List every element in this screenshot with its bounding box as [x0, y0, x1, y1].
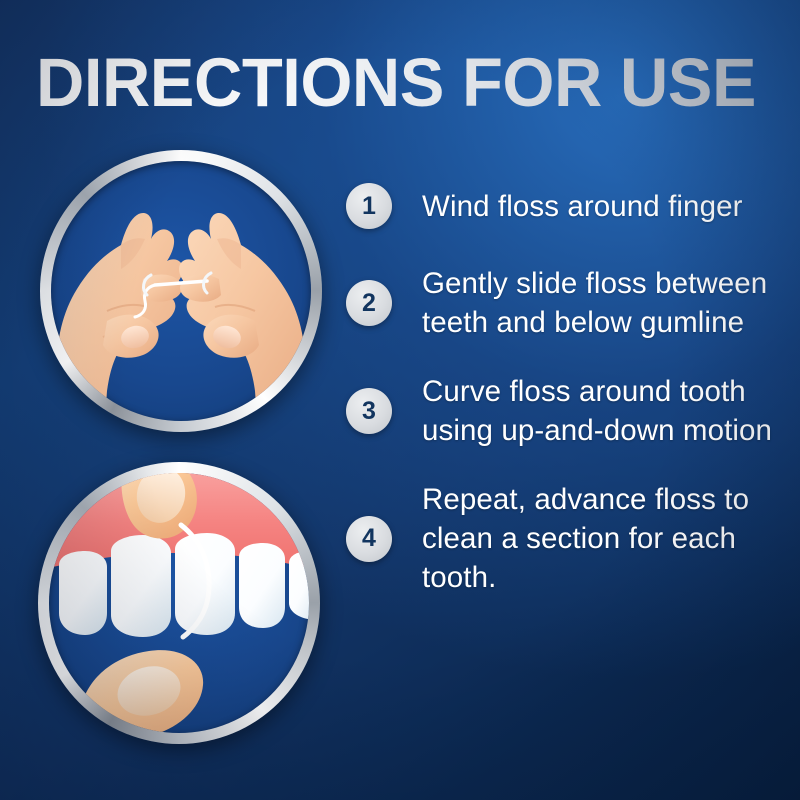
illustration-hands-winding-floss	[40, 150, 322, 432]
step-number-badge-1: 1	[346, 183, 392, 229]
step-number-badge-2: 2	[346, 280, 392, 326]
illustration-disc	[51, 161, 311, 421]
right-hand	[179, 213, 306, 419]
illustration-flossing-between-teeth	[38, 462, 320, 744]
step-item-2: 2 Gently slide floss between teeth and b…	[346, 264, 786, 342]
tooth-5	[289, 551, 309, 619]
step-item-1: 1 Wind floss around finger	[346, 178, 786, 234]
steps-list: 1 Wind floss around finger 2 Gently slid…	[346, 178, 786, 619]
step-item-4: 4 Repeat, advance floss to clean a secti…	[346, 480, 786, 597]
illustration-disc	[49, 473, 309, 733]
step-text-4: Repeat, advance floss to clean a section…	[422, 480, 786, 597]
step-number-badge-3: 3	[346, 388, 392, 434]
lower-fingertip	[79, 650, 203, 733]
directions-for-use-poster: DIRECTIONS FOR USE	[0, 0, 800, 800]
step-text-1: Wind floss around finger	[422, 187, 743, 226]
step-item-3: 3 Curve floss around tooth using up-and-…	[346, 372, 786, 450]
step-text-3: Curve floss around tooth using up-and-do…	[422, 372, 786, 450]
hands-floss-scene	[51, 161, 311, 421]
tooth-4	[239, 543, 285, 628]
teeth-floss-scene	[49, 473, 309, 733]
step-text-2: Gently slide floss between teeth and bel…	[422, 264, 786, 342]
tooth-2	[111, 535, 171, 637]
tooth-3	[175, 533, 235, 635]
tooth-1	[59, 551, 107, 635]
page-title: DIRECTIONS FOR USE	[36, 44, 754, 122]
step-number-badge-4: 4	[346, 516, 392, 562]
left-hand	[56, 213, 183, 419]
